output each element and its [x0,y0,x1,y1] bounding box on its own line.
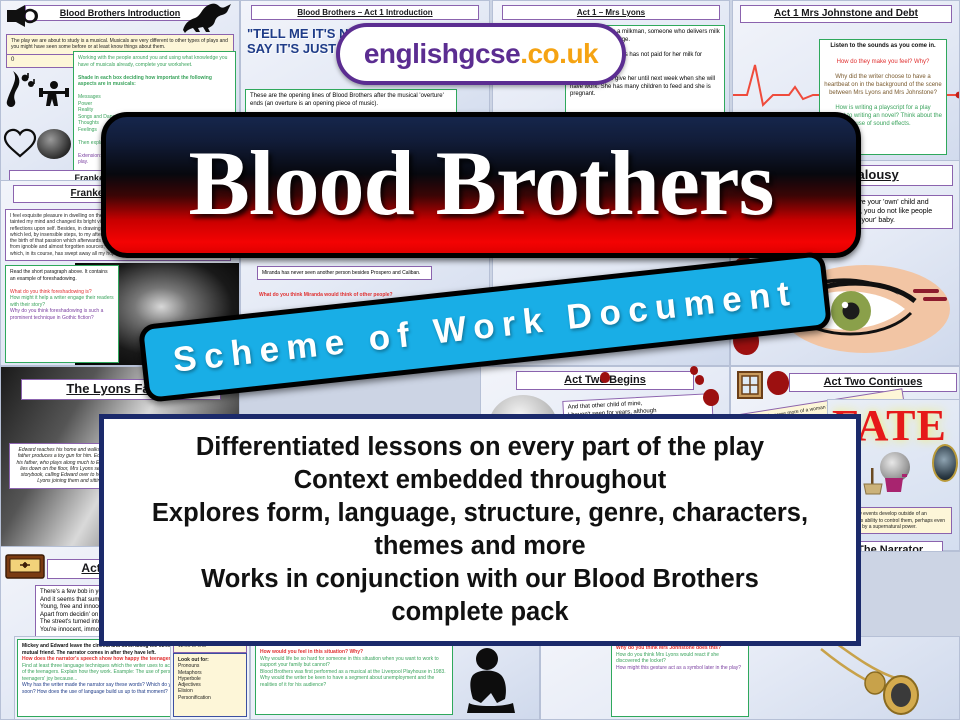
unemployment-questions: How would you feel in this situation? Wh… [255,645,453,715]
sitting-man-silhouette-icon [457,645,523,717]
locket-icon [815,639,935,719]
slide-look-out-for: 12:00 to end Look out for: Pronouns Meta… [170,636,250,720]
blood-drop [600,372,610,383]
blood-drop [690,366,698,375]
scale-min: 0 [11,57,14,65]
narrator-questions: Why do you think Mrs Johnstone does this… [611,641,749,717]
product-description-panel: Differentiated lessons on every part of … [99,414,861,646]
slide-title: Blood Brothers – Act 1 Introduction [251,5,479,20]
broom-icon [862,468,884,496]
slide-title: Act 1 – Mrs Lyons [502,5,719,20]
slide-act-one-unemployment: How would you feel in this situation? Wh… [250,640,540,720]
englishgcse-logo[interactable]: englishgcse.co.uk [336,23,626,85]
frankenstein-questions: Read the short paragraph above. It conta… [5,265,119,363]
slide-act-one-the-narrator: Why do you think Mrs Johnstone does this… [540,636,960,720]
page-title: Blood Brothers [106,137,856,229]
blood-drop [695,375,704,385]
heart-icon [3,127,37,159]
logo-tld-text: .co.uk [520,38,598,70]
blood-drop [767,371,789,395]
list-item: Context embedded throughout [104,464,856,497]
logo-name-text: englishgcse [364,38,520,70]
window-icon [737,371,763,399]
trumpet-icon [5,4,39,28]
slide-title: Act 1 Mrs Johnstone and Debt [740,5,952,23]
horse-icon [179,3,237,33]
weightlifter-icon [37,79,71,107]
list-item: Works in conjunction with our Blood Brot… [104,563,856,596]
slide-title: Act Two Continues [789,373,957,392]
radio-icon [5,551,45,579]
mirror-icon [932,444,958,482]
brain-icon [37,129,71,159]
tempest-line-1: Miranda has never seen another person be… [257,266,432,280]
list-item: themes and more [104,530,856,563]
poster-canvas: Blood Brothers Introduction The play we … [0,0,960,720]
dustpan-icon [884,472,908,494]
product-title-plaque: Blood Brothers [101,112,861,258]
music-note-icon [5,69,35,109]
list-item: Differentiated lessons on every part of … [104,431,856,464]
list-item: complete pack [104,596,856,629]
list-item: Explores form, language, structure, genr… [104,497,856,530]
feature-list: Differentiated lessons on every part of … [104,431,856,630]
look-out-for-box: Look out for: Pronouns Metaphors Hyperbo… [173,653,247,717]
blood-drop [703,389,719,406]
